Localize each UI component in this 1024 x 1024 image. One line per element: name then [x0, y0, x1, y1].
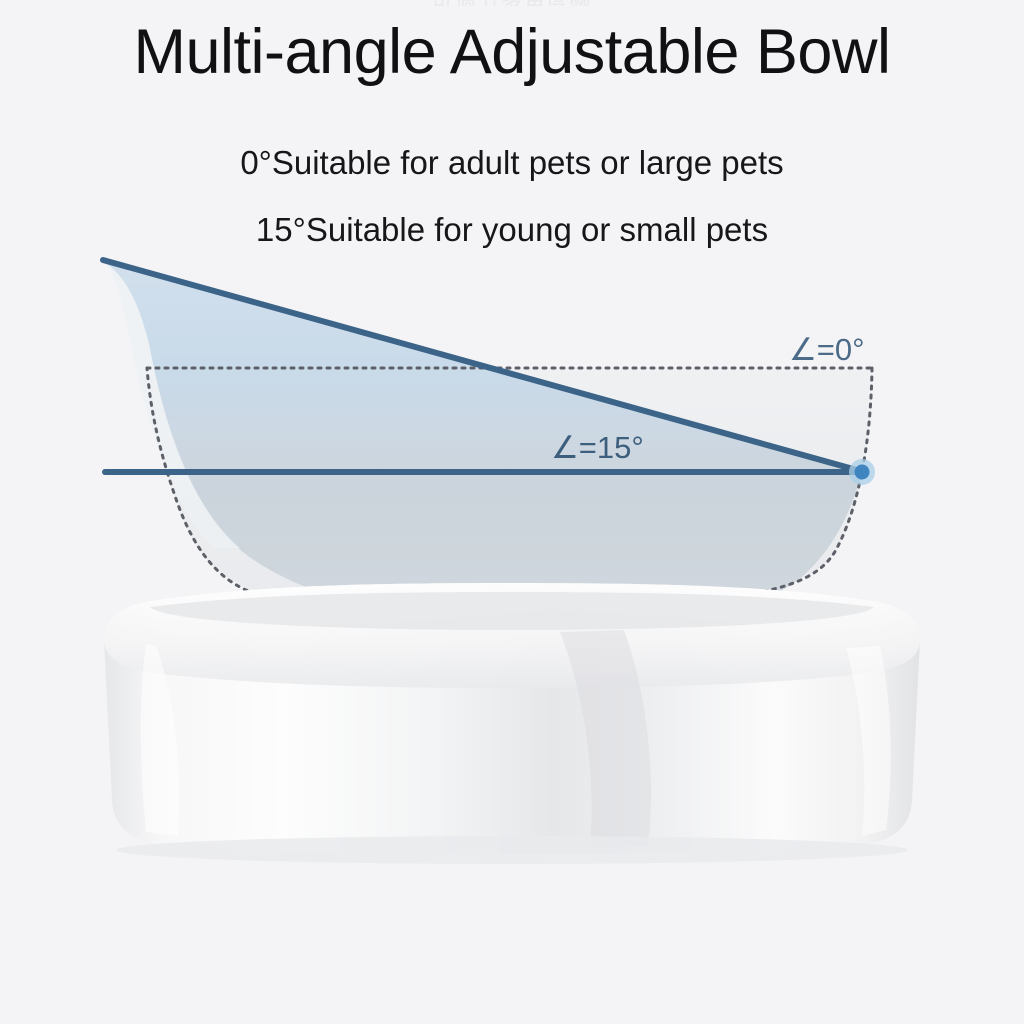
angle-label-tilt-group: ∠=15°: [551, 430, 644, 465]
pivot-point: [849, 459, 875, 485]
product-infographic: 可调节多角度碗 Multi-angle Adjustable Bowl 0°Su…: [0, 0, 1024, 1024]
angle-label-tilt: ∠=15°: [551, 430, 644, 465]
base-stand: [104, 583, 920, 864]
diagram-svg: ∠=0° ∠=15°: [0, 0, 1024, 1024]
pivot-dot: [855, 465, 870, 480]
bowl-angle-diagram: ∠=0° ∠=15°: [0, 0, 1024, 1024]
base-contact-shadow: [116, 836, 908, 864]
angle-label-zero-group: ∠=0°: [789, 332, 865, 367]
angle-label-zero: ∠=0°: [789, 332, 865, 367]
